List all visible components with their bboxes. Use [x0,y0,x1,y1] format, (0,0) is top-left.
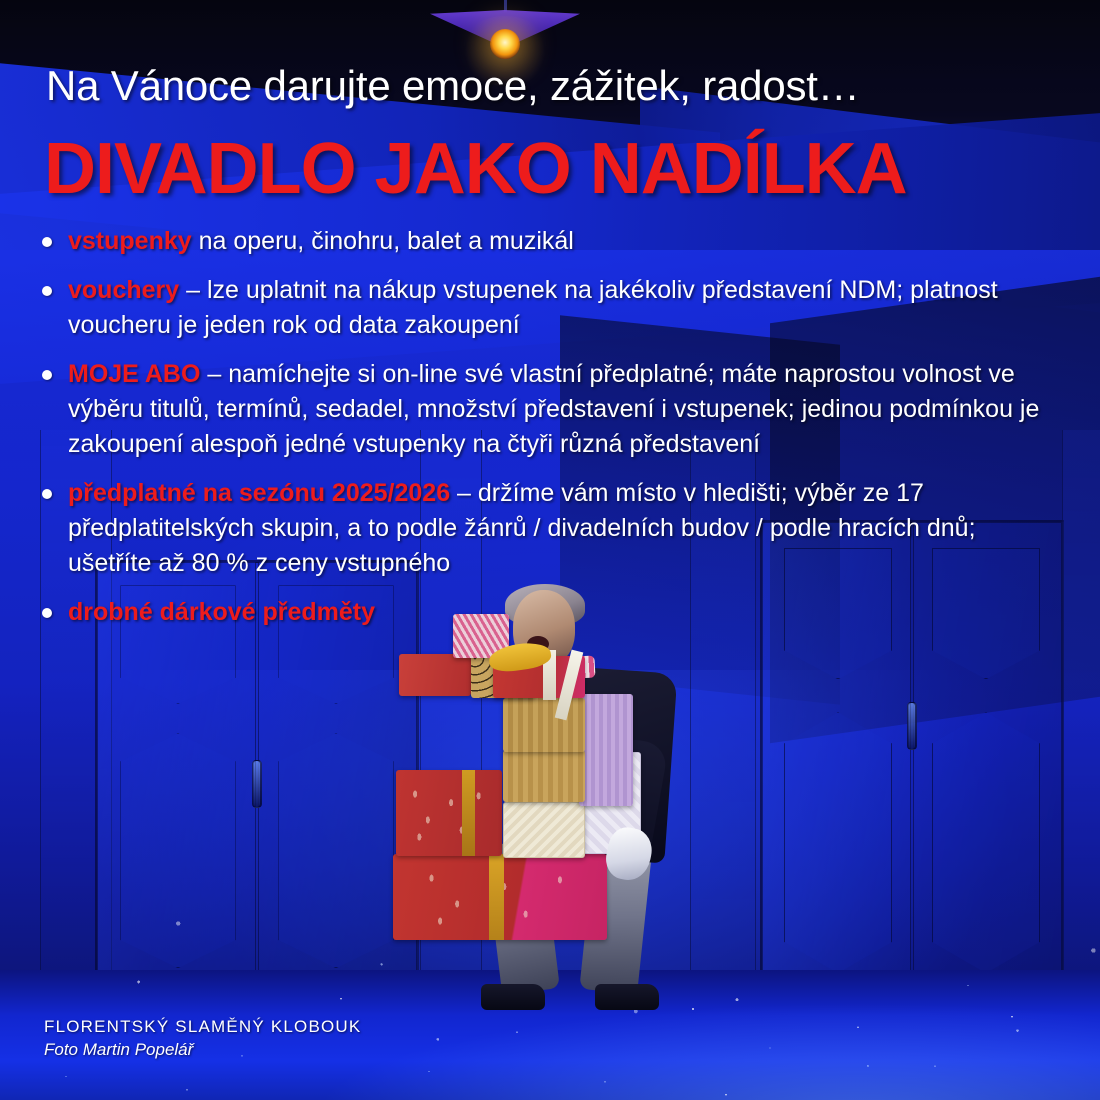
list-item-lead: vouchery [68,276,179,304]
list-item-lead: MOJE ABO [68,360,200,388]
poster-kicker: Na Vánoce darujte emoce, zážitek, radost… [46,62,860,110]
bullet-dot-icon [42,608,52,618]
photographer-credit: Foto Martin Popelář [44,1040,361,1060]
list-item: MOJE ABO – namíchejte si on-line své vla… [36,357,1060,462]
list-item: vouchery – lze uplatnit na nákup vstupen… [36,273,1060,343]
poster-headline: DIVADLO JAKO NADÍLKA [44,128,907,210]
list-item: předplatné na sezónu 2025/2026 – držíme … [36,476,1060,581]
offer-list: vstupenky na operu, činohru, balet a muz… [36,224,1060,630]
list-item-text: na operu, činohru, balet a muzikál [192,227,574,255]
poster-content: Na Vánoce darujte emoce, zážitek, radost… [0,0,1100,1100]
list-item-lead: předplatné na sezónu 2025/2026 [68,479,450,507]
bullet-dot-icon [42,286,52,296]
list-item-text: – lze uplatnit na nákup vstupenek na jak… [68,276,998,339]
bullet-dot-icon [42,370,52,380]
list-item: drobné dárkové předměty [36,595,1060,630]
poster: Na Vánoce darujte emoce, zážitek, radost… [0,0,1100,1100]
bullet-dot-icon [42,237,52,247]
bullet-dot-icon [42,489,52,499]
photo-credit: FLORENTSKÝ SLAMĚNÝ KLOBOUK Foto Martin P… [44,1017,361,1060]
list-item-text: – namíchejte si on-line své vlastní před… [68,360,1039,458]
list-item: vstupenky na operu, činohru, balet a muz… [36,224,1060,259]
list-item-lead: vstupenky [68,227,192,255]
list-item-lead: drobné dárkové předměty [68,598,375,626]
play-title: FLORENTSKÝ SLAMĚNÝ KLOBOUK [44,1017,361,1037]
